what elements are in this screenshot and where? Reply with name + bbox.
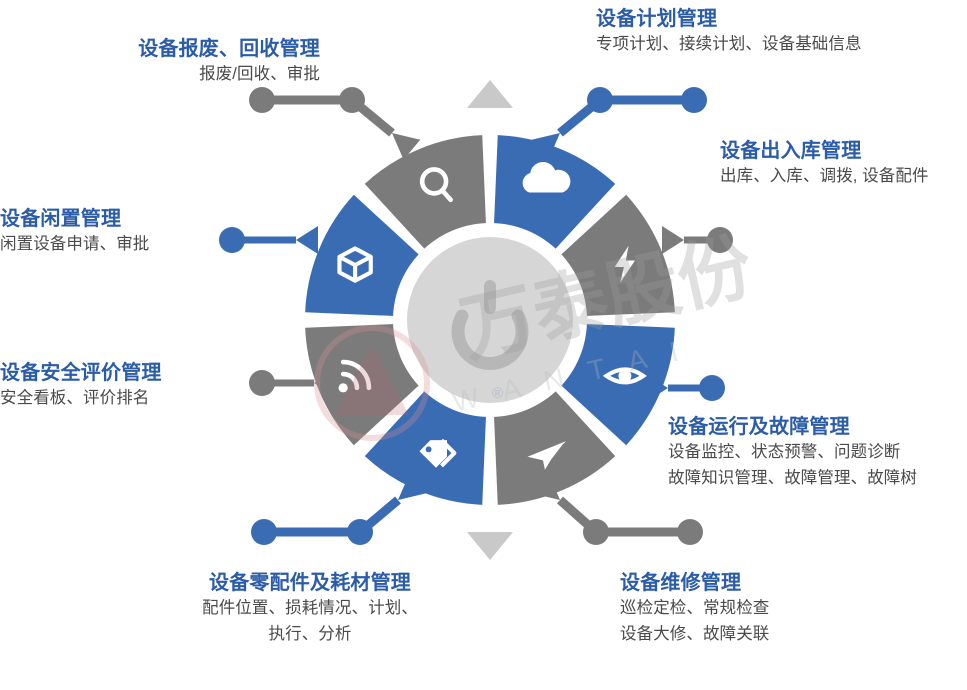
label-desc-2: 故障知识管理、故障管理、故障树	[668, 466, 967, 492]
label-title: 设备闲置管理	[0, 206, 200, 232]
label-store[interactable]: 设备出入库管理 出库、入库、调拨, 设备配件	[720, 138, 967, 190]
label-title: 设备维修管理	[620, 570, 880, 596]
label-idle[interactable]: 设备闲置管理 闲置设备申请、审批	[0, 206, 200, 258]
svg-text:®: ®	[492, 385, 503, 402]
triangle-down-marker	[467, 532, 513, 560]
label-title: 设备运行及故障管理	[668, 414, 967, 440]
label-desc-2: 设备大修、故障关联	[620, 622, 880, 648]
label-desc: 设备监控、状态预警、问题诊断	[668, 440, 967, 466]
label-scrap[interactable]: 设备报废、回收管理 报废/回收、审批	[0, 36, 320, 88]
label-desc: 专项计划、接续计划、设备基础信息	[596, 32, 956, 58]
label-desc: 配件位置、损耗情况、计划、	[160, 596, 460, 622]
infographic-canvas: 万泰股份 W A N T A I ® 设备报废、回收管理 报废/回收、审批 设备…	[0, 0, 967, 690]
label-desc-2: 执行、分析	[160, 622, 460, 648]
label-title: 设备报废、回收管理	[0, 36, 320, 62]
label-safety[interactable]: 设备安全评价管理 安全看板、评价排名	[0, 360, 215, 412]
label-repair[interactable]: 设备维修管理 巡检定检、常规检查 设备大修、故障关联	[620, 570, 880, 648]
triangle-up-marker	[467, 80, 513, 108]
label-desc: 巡检定检、常规检查	[620, 596, 880, 622]
label-parts[interactable]: 设备零配件及耗材管理 配件位置、损耗情况、计划、 执行、分析	[160, 570, 460, 648]
label-title: 设备零配件及耗材管理	[160, 570, 460, 596]
label-run[interactable]: 设备运行及故障管理 设备监控、状态预警、问题诊断 故障知识管理、故障管理、故障树	[668, 414, 967, 492]
label-plan[interactable]: 设备计划管理 专项计划、接续计划、设备基础信息	[596, 6, 956, 58]
label-desc: 出库、入库、调拨, 设备配件	[720, 164, 967, 190]
label-desc: 安全看板、评价排名	[0, 386, 215, 412]
label-desc: 闲置设备申请、审批	[0, 232, 200, 258]
label-desc: 报废/回收、审批	[0, 62, 320, 88]
label-title: 设备出入库管理	[720, 138, 967, 164]
label-title: 设备计划管理	[596, 6, 956, 32]
label-title: 设备安全评价管理	[0, 360, 215, 386]
